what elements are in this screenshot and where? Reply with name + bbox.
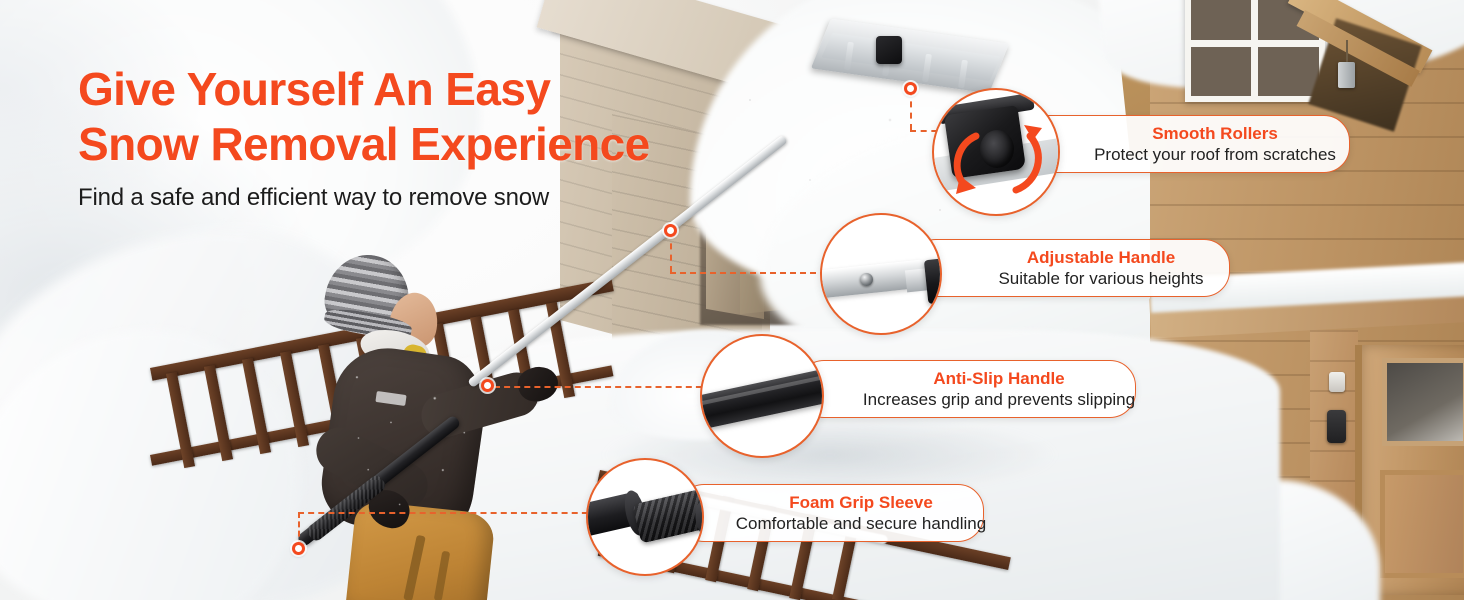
rake-roller [876, 36, 902, 64]
leader-line-rollers-v [910, 90, 912, 130]
black-coupler [924, 254, 942, 304]
callout-description: Increases grip and prevents slipping [863, 389, 1135, 410]
callout-description: Suitable for various heights [998, 268, 1203, 289]
callout-title: Anti-Slip Handle [933, 369, 1064, 389]
callout-image-foam-grip-sleeve [586, 458, 704, 576]
marker-dot-rollers [904, 82, 917, 95]
cabin-door-window [1382, 358, 1464, 446]
callout-pill-anti-slip-handle: Anti-Slip Handle Increases grip and prev… [798, 360, 1136, 418]
leader-line-foamgrip-v [298, 512, 300, 546]
marker-dot-adjustable [664, 224, 677, 237]
leader-line-adjustable-v [670, 232, 672, 272]
leader-line-antislip-h [494, 386, 712, 388]
lockbox-icon [1327, 410, 1346, 443]
callout-image-anti-slip-handle [700, 334, 824, 458]
marker-dot-foamgrip [292, 542, 305, 555]
callout-description: Comfortable and secure handling [736, 513, 986, 534]
callout-description: Protect your roof from scratches [1094, 144, 1336, 165]
leader-line-adjustable-h [670, 272, 836, 274]
lantern [1338, 62, 1355, 88]
callout-image-smooth-rollers [932, 88, 1060, 216]
product-feature-banner: Give Yourself An Easy Snow Removal Exper… [0, 0, 1464, 600]
lantern-rope [1346, 40, 1348, 64]
callout-title: Adjustable Handle [1027, 248, 1175, 268]
subheadline: Find a safe and efficient way to remove … [78, 184, 549, 212]
cabin-door-panel [1380, 470, 1464, 578]
headline: Give Yourself An Easy Snow Removal Exper… [78, 62, 718, 172]
leader-line-foamgrip-h [298, 512, 598, 514]
padlock-icon [1329, 372, 1345, 392]
headline-line-2: Snow Removal Experience [78, 117, 718, 172]
adjust-button-icon [860, 273, 873, 286]
callout-image-adjustable-handle [820, 213, 942, 335]
callout-pill-foam-grip-sleeve: Foam Grip Sleeve Comfortable and secure … [678, 484, 984, 542]
callout-title: Foam Grip Sleeve [789, 493, 933, 513]
callout-title: Smooth Rollers [1152, 124, 1278, 144]
rotation-arrow-icon [934, 90, 1058, 214]
callout-pill-adjustable-handle: Adjustable Handle Suitable for various h… [910, 239, 1230, 297]
callout-pill-smooth-rollers: Smooth Rollers Protect your roof from sc… [1020, 115, 1350, 173]
textured-foam-sleeve [632, 488, 704, 543]
headline-line-1: Give Yourself An Easy [78, 62, 718, 117]
marker-dot-antislip [481, 379, 494, 392]
